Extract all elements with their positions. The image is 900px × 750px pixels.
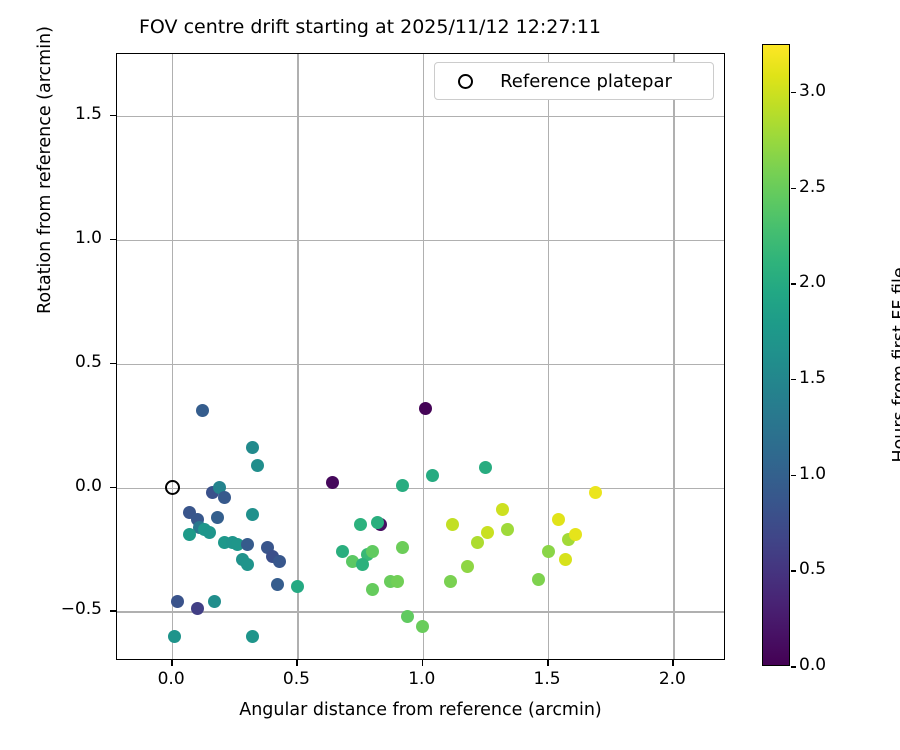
colorbar-tick-label: 3.0 (799, 81, 826, 101)
data-point (291, 580, 304, 593)
data-point (246, 630, 259, 643)
colorbar (762, 44, 790, 666)
data-point (371, 516, 384, 529)
data-point (426, 469, 439, 482)
colorbar-tick (791, 475, 796, 477)
data-point (241, 538, 254, 551)
y-axis-tick (110, 610, 116, 612)
y-axis-tick-label: 0.5 (22, 352, 102, 372)
x-axis-label: Angular distance from reference (arcmin) (116, 700, 725, 720)
y-axis-tick-label: 0.0 (22, 476, 102, 496)
gridline-vertical (423, 54, 424, 659)
data-point (559, 553, 572, 566)
y-axis-tick (110, 239, 116, 241)
data-point (271, 578, 284, 591)
data-point (416, 620, 429, 633)
gridline-horizontal (117, 364, 724, 365)
gridline-vertical (297, 54, 298, 659)
data-point (479, 461, 492, 474)
data-point (396, 479, 409, 492)
data-point (171, 595, 184, 608)
legend-entry-label: Reference platepar (473, 71, 713, 92)
data-point (589, 486, 602, 499)
plot-area (116, 53, 725, 660)
colorbar-tick-label: 0.0 (799, 655, 826, 675)
data-point (246, 508, 259, 521)
x-axis-tick (171, 660, 173, 666)
x-axis-tick-label: 1.0 (387, 669, 457, 689)
x-axis-tick (422, 660, 424, 666)
reference-platepar-point (165, 480, 180, 495)
reference-platepar-marker-icon (458, 74, 473, 89)
colorbar-tick (791, 92, 796, 94)
colorbar-label: Hours from first FF file (890, 165, 900, 565)
x-axis-tick-label: 1.5 (512, 669, 582, 689)
colorbar-tick (791, 283, 796, 285)
data-point (208, 595, 221, 608)
x-axis-tick (296, 660, 298, 666)
data-point (366, 583, 379, 596)
data-point (444, 575, 457, 588)
gridline-vertical (548, 54, 549, 659)
data-point (396, 541, 409, 554)
data-point (246, 441, 259, 454)
y-axis-label: Rotation from reference (arcmin) (35, 0, 55, 370)
data-point (366, 545, 379, 558)
data-point (419, 402, 432, 415)
data-point (211, 511, 224, 524)
data-point (218, 491, 231, 504)
x-axis-tick-label: 0.0 (136, 669, 206, 689)
x-axis-tick (672, 660, 674, 666)
y-axis-tick-label: 1.0 (22, 228, 102, 248)
y-axis-tick (110, 487, 116, 489)
data-point (191, 602, 204, 615)
data-point (168, 630, 181, 643)
data-point (401, 610, 414, 623)
y-axis-tick-label: −0.5 (22, 599, 102, 619)
data-point (501, 523, 514, 536)
scatter-chart-figure: FOV centre drift starting at 2025/11/12 … (0, 0, 900, 750)
legend: Reference platepar (434, 62, 714, 100)
data-point (354, 518, 367, 531)
data-point (241, 558, 254, 571)
data-point (461, 560, 474, 573)
y-axis-tick (110, 115, 116, 117)
gridline-horizontal (117, 240, 724, 241)
data-point (203, 526, 216, 539)
y-axis-tick (110, 363, 116, 365)
colorbar-tick (791, 570, 796, 572)
x-axis-tick-label: 0.5 (261, 669, 331, 689)
colorbar-tick-label: 1.0 (799, 464, 826, 484)
gridline-vertical (673, 54, 674, 659)
page-title: FOV centre drift starting at 2025/11/12 … (0, 16, 740, 38)
data-point (391, 575, 404, 588)
data-point (552, 513, 565, 526)
colorbar-tick (791, 379, 796, 381)
colorbar-tick-label: 2.0 (799, 272, 826, 292)
data-point (496, 503, 509, 516)
data-point (532, 573, 545, 586)
data-point (446, 518, 459, 531)
gridline-horizontal (117, 116, 724, 117)
data-point (251, 459, 264, 472)
data-point (481, 526, 494, 539)
colorbar-tick-label: 2.5 (799, 177, 826, 197)
x-axis-tick (547, 660, 549, 666)
x-axis-tick-label: 2.0 (637, 669, 707, 689)
data-point (356, 558, 369, 571)
data-point (273, 555, 286, 568)
data-point (183, 528, 196, 541)
colorbar-tick-label: 1.5 (799, 368, 826, 388)
colorbar-tick (791, 188, 796, 190)
data-point (542, 545, 555, 558)
gridline-vertical (172, 54, 173, 659)
colorbar-tick (791, 666, 796, 668)
y-axis-tick-label: 1.5 (22, 104, 102, 124)
gridline-horizontal (117, 611, 724, 612)
data-point (569, 528, 582, 541)
data-point (196, 404, 209, 417)
colorbar-tick-label: 0.5 (799, 559, 826, 579)
